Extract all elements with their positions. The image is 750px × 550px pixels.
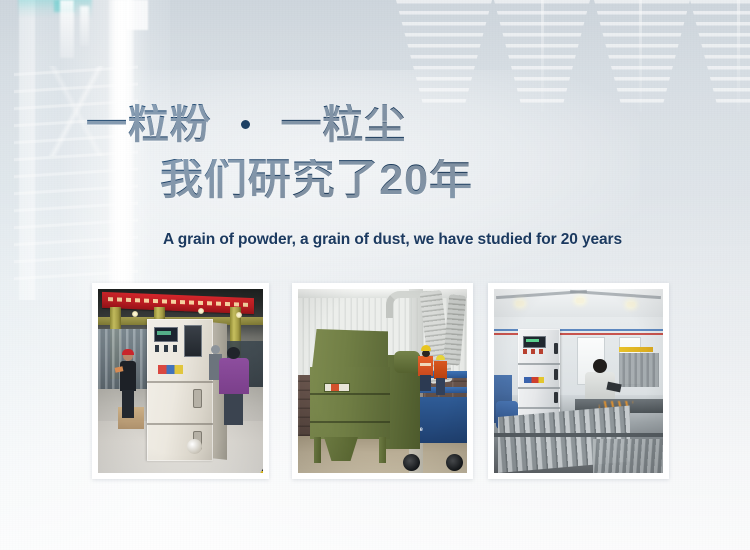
background-machinery [619,353,659,387]
grey-dust-collector-cabinet [518,329,560,425]
control-buttons [523,349,545,354]
door-handle [554,392,558,403]
ceiling-lamp-icon [516,301,524,306]
door-handle [193,389,202,408]
photo-3-image [494,289,663,473]
panel-seam [147,381,213,383]
inverter-box [184,325,202,357]
technician-orange-vest [418,345,433,391]
headline-line-1-part-2: 一粒尘 [280,101,405,147]
product-label-sticker [524,377,544,383]
collector-support-legs [312,437,388,463]
panel-seam [518,387,560,389]
worker-in-black-uniform [120,351,137,419]
control-buttons [155,345,181,352]
technician-orange-vest-second [434,355,447,395]
collector-fan-housing [394,351,420,373]
photo-card-1[interactable] [92,283,269,479]
door-handle [554,369,558,380]
panel-seam [147,423,213,425]
headline-line-1-part-1: 一粒粉 [86,101,211,147]
ceiling-lamp-icon [198,308,204,314]
ceiling-lamp-icon [236,312,242,318]
metal-rails-right [593,439,663,473]
photo-card-2[interactable]: Genie [292,283,473,479]
photo-2-image: Genie [298,289,467,473]
headline-line-1: 一粒粉一粒尘 [0,104,750,145]
product-label-sticker [158,365,183,374]
inlet-port [187,439,202,454]
headline-line-2: 我们研究了20年 [0,159,750,202]
green-collector-upper-body [312,329,388,369]
ceiling-lamp-icon [576,298,584,303]
panel-seam [310,421,390,423]
lift-wheel [446,454,463,471]
control-display-panel [154,327,178,342]
promo-banner: 一粒粉一粒尘 我们研究了20年 A grain of powder, a gra… [0,0,750,550]
photo-gallery: Genie [0,283,750,479]
lift-wheel [403,454,420,471]
headline-subtitle: A grain of powder, a grain of dust, we h… [163,231,622,249]
ceiling-lamp-icon [132,311,138,317]
control-display-panel [523,336,546,348]
headline-block: 一粒粉一粒尘 我们研究了20年 [0,104,750,202]
foreground-frame-bar [494,433,663,437]
door-handle [554,343,558,354]
product-nameplate [324,383,350,392]
headline-separator-dot [241,120,250,129]
white-dust-collector-cabinet [147,319,213,461]
photo-1-image [98,289,263,473]
panel-seam [518,363,560,365]
photo-card-3[interactable] [488,283,669,479]
worker-in-purple-shirt [219,347,249,425]
green-collector-main-body [310,367,390,439]
panel-seam [310,393,390,395]
panel-seam [518,407,560,409]
yellow-equipment-strip [619,347,653,352]
ceiling-lamp-icon [627,302,635,307]
